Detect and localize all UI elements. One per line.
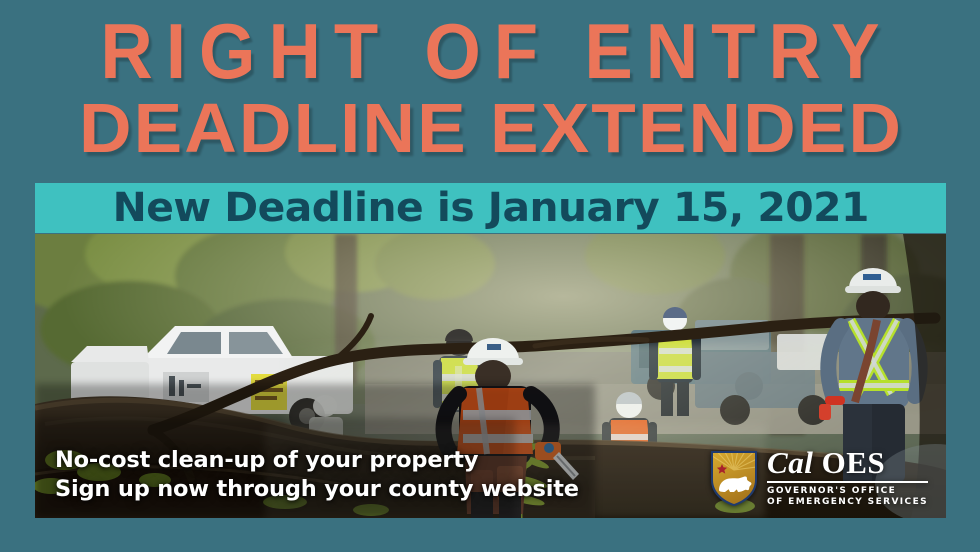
logo-subtitle-line-1: GOVERNOR'S OFFICE bbox=[767, 486, 928, 497]
logo-subtitle-line-2: OF EMERGENCY SERVICES bbox=[767, 497, 928, 508]
california-bear-shield-icon bbox=[710, 450, 758, 506]
logo-brand-oes: OES bbox=[822, 445, 886, 480]
cal-oes-logo: Cal OES GOVERNOR'S OFFICE OF EMERGENCY S… bbox=[710, 447, 928, 508]
headline-block: RIGHT OF ENTRY DEADLINE EXTENDED bbox=[0, 14, 980, 162]
caption-block: No-cost clean-up of your property Sign u… bbox=[55, 446, 579, 504]
headline-line-2: DEADLINE EXTENDED bbox=[0, 95, 980, 162]
logo-brand: Cal OES bbox=[767, 447, 928, 478]
caption-line-1: No-cost clean-up of your property bbox=[55, 446, 579, 475]
deadline-banner-text: New Deadline is January 15, 2021 bbox=[112, 185, 868, 231]
logo-brand-cal: Cal bbox=[767, 445, 813, 480]
headline-line-1: RIGHT OF ENTRY bbox=[34, 14, 945, 88]
deadline-banner: New Deadline is January 15, 2021 bbox=[35, 183, 946, 233]
logo-wordmark: Cal OES GOVERNOR'S OFFICE OF EMERGENCY S… bbox=[767, 447, 928, 508]
caption-line-2: Sign up now through your county website bbox=[55, 475, 579, 504]
logo-divider bbox=[767, 481, 928, 483]
